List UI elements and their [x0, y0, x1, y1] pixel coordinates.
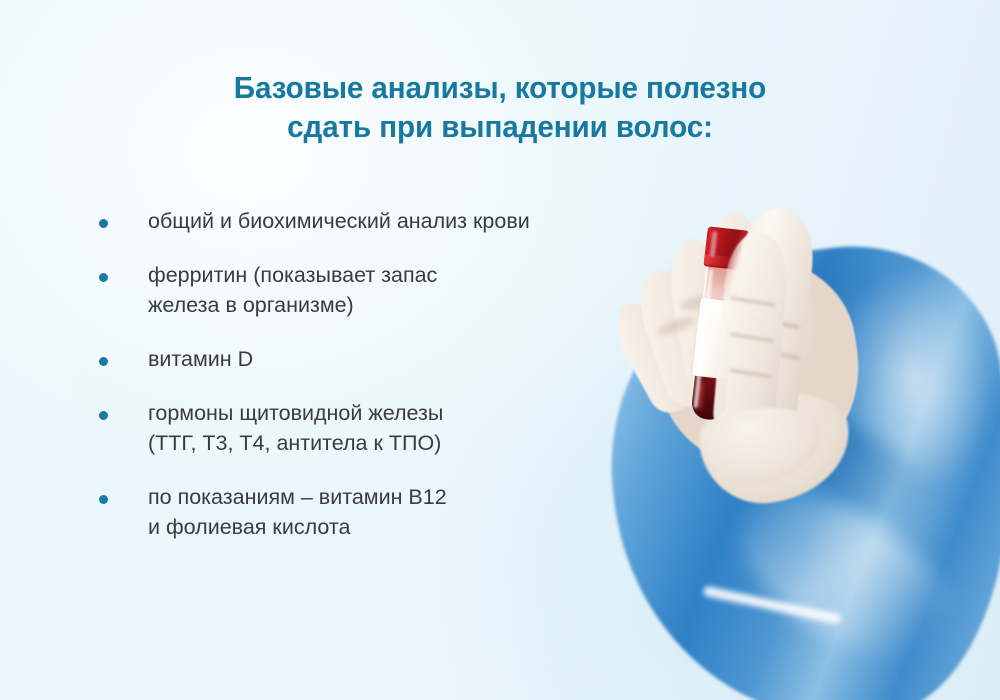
bullet-dot-icon	[99, 219, 108, 228]
list-item: гормоны щитовидной железы (ТТГ, Т3, Т4, …	[92, 398, 692, 458]
list-item: ферритин (показывает запас железа в орга…	[92, 260, 692, 320]
bullet-dot-icon	[99, 495, 108, 504]
list-item-label: общий и биохимический анализ крови	[148, 206, 692, 236]
bullet-dot-icon	[99, 411, 108, 420]
slide-root: Базовые анализы, которые полезно сдать п…	[0, 0, 1000, 700]
analysis-bullet-list: общий и биохимический анализ крови ферри…	[92, 206, 692, 542]
bullet-dot-icon	[99, 357, 108, 366]
list-item-label: гормоны щитовидной железы (ТТГ, Т3, Т4, …	[148, 398, 692, 458]
list-item: по показаниям – витамин B12 и фолиевая к…	[92, 482, 692, 542]
list-item-label: по показаниям – витамин B12 и фолиевая к…	[148, 482, 692, 542]
list-item-label: ферритин (показывает запас железа в орга…	[148, 260, 692, 320]
list-item: общий и биохимический анализ крови	[92, 206, 692, 236]
list-item: витамин D	[92, 344, 692, 374]
list-item-label: витамин D	[148, 344, 692, 374]
bullet-dot-icon	[99, 273, 108, 282]
